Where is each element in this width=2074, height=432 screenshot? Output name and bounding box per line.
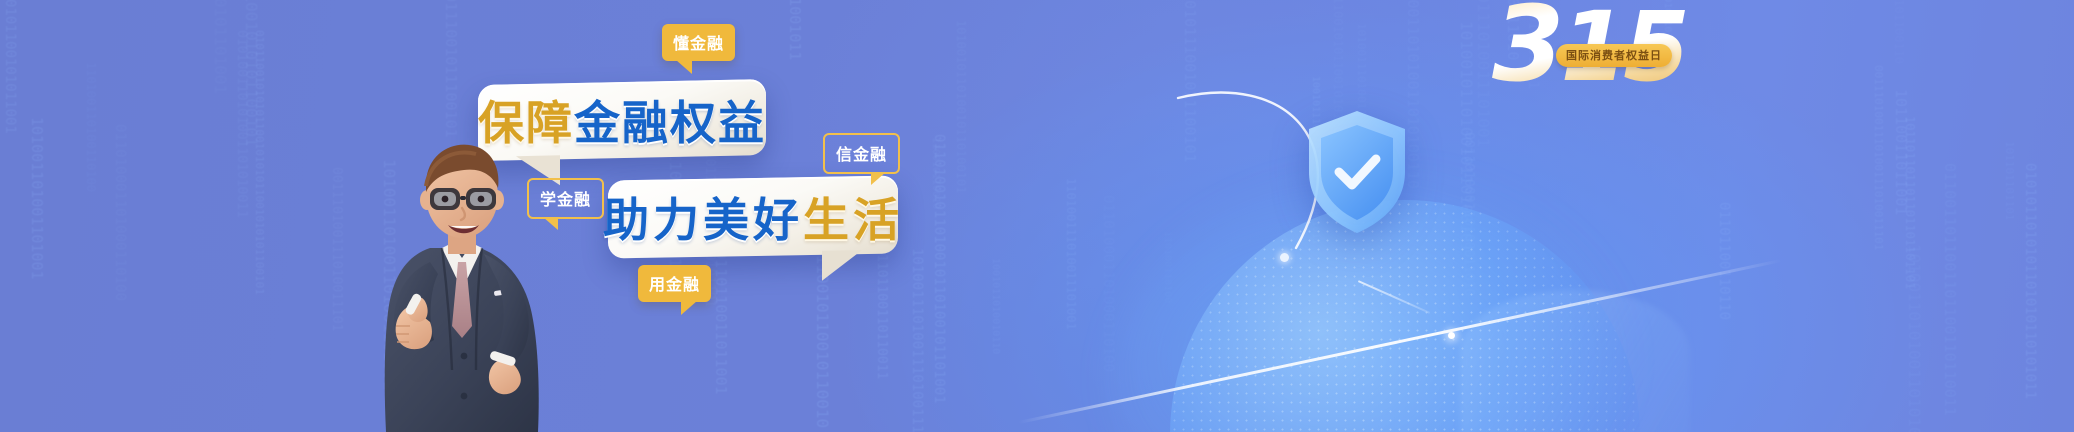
binary-background: 1010011010100110101001101010011001011001… <box>0 0 2074 432</box>
businessman-thumbs-up <box>372 130 552 432</box>
binary-column: 0011101001110100111010011101 <box>1870 65 1887 250</box>
binary-column: 01101001011010010110100101101001 <box>930 134 947 404</box>
binary-column: 0110011011001101100110110011 <box>1941 163 1958 416</box>
swoosh-end-dot <box>1280 253 1289 262</box>
binary-column: 001110100111010011101 <box>328 167 345 331</box>
binary-column: 101001101001101001 <box>28 117 45 280</box>
binary-column: 1001011010010110 <box>987 258 1004 354</box>
binary-column: 0101011010101101010110101011 <box>2021 163 2038 399</box>
binary-column: 110100111010011101001 <box>1062 178 1079 330</box>
binary-column: 110100110100110100 <box>82 62 99 192</box>
binary-column: 110010111001011100101 <box>442 0 459 138</box>
binary-column: 01101100110110 <box>1715 202 1732 320</box>
headline-bubble-2: 助力美好生活 <box>608 175 898 258</box>
banner-315-financial-rights: 1010011010100110101001101010011001011001… <box>0 0 2074 432</box>
headline-1-blue: 金融权益 <box>574 87 766 153</box>
logo-pill-label: 国际消费者权益日 <box>1556 44 1672 67</box>
logo-digit-3: 3 <box>1492 0 1560 105</box>
tag-xin-jinrong: 信金融 <box>823 133 900 174</box>
binary-column: 0110100101101001 <box>212 0 229 94</box>
headline-2: 助力美好生活 <box>603 184 903 250</box>
binary-column: 01011001010101100101 <box>243 0 260 147</box>
shield-check-icon <box>1303 108 1411 236</box>
binary-column: 101101101101 <box>2001 141 2018 220</box>
logo-315: 315 国际消费者权益日 <box>1492 0 1752 106</box>
binary-column: 011010001101000110100 <box>111 124 128 301</box>
headline-2-blue: 助力美好 <box>603 184 803 250</box>
tag-dong-jinrong: 懂金融 <box>662 24 735 61</box>
binary-column: 1010011101001110100111010011 <box>908 248 925 432</box>
headline-2-gold: 生活 <box>803 184 903 250</box>
orbit-node-dot <box>1448 332 1455 339</box>
tag-yong-jinrong: 用金融 <box>638 265 711 302</box>
binary-column: 101001011010010110100101 <box>952 20 969 193</box>
binary-column: 0101100101011001 <box>1 0 18 134</box>
binary-column: 11001101100110 <box>1890 0 1907 64</box>
binary-column: 10100110101001101010011010100110 <box>1906 244 1923 432</box>
binary-column: 10010111001011 <box>786 0 803 60</box>
binary-column: 10110011011001 <box>1892 89 1909 215</box>
